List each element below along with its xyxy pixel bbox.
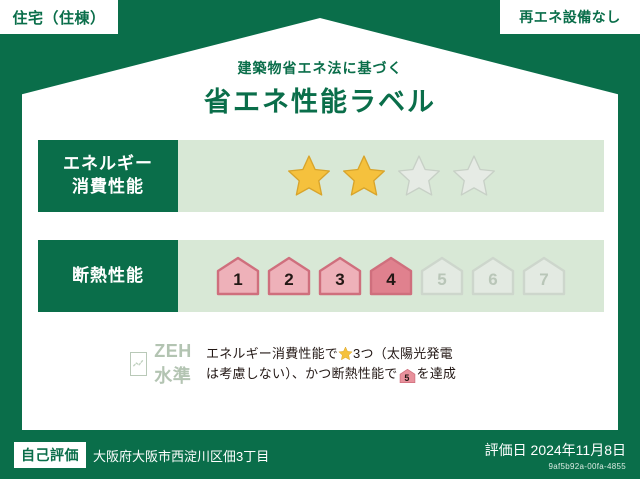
insulation-level-value: 3 — [335, 270, 344, 297]
energy-label-line1: エネルギー — [63, 153, 153, 176]
insulation-level-badge-1: 1 — [215, 255, 261, 297]
zeh-text-1a: エネルギー消費性能で — [206, 346, 338, 361]
property-address: 大阪府大阪市西淀川区佃3丁目 — [93, 446, 269, 465]
insulation-level-value: 6 — [488, 270, 497, 297]
star-icon-filled — [286, 153, 332, 199]
zeh-label: ZEH水準 — [154, 341, 206, 388]
label-footer: 自己評価 大阪府大阪市西淀川区佃3丁目 評価日 2024年11月8日 9af5b… — [0, 431, 640, 479]
zeh-description-line1: エネルギー消費性能で 3つ（太陽光発電 — [206, 344, 456, 364]
label-subtitle: 建築物省エネ法に基づく — [0, 58, 640, 78]
zeh-standard-section: ZEH水準 エネルギー消費性能で 3つ（太陽光発電 は考慮しない）、かつ断熱性能… — [38, 336, 604, 392]
insulation-performance-label-box: 断熱性能 — [38, 240, 178, 312]
energy-performance-value-box — [178, 140, 604, 212]
star-icon — [338, 346, 353, 361]
insulation-level-badge-5: 5 — [419, 255, 465, 297]
star-rating — [286, 153, 497, 199]
renewable-energy-tag-label: 再エネ設備なし — [519, 7, 621, 27]
zeh-description-line2: は考慮しない）、かつ断熱性能で 5を達成 — [206, 364, 456, 384]
insulation-level-badge-4: 4 — [368, 255, 414, 297]
energy-performance-row: エネルギー 消費性能 — [38, 140, 604, 212]
star-icon-filled — [341, 153, 387, 199]
building-type-tag: 住宅（住棟） — [0, 0, 118, 34]
zeh-check-icon — [130, 352, 147, 376]
evaluation-type-badge: 自己評価 — [14, 442, 86, 468]
insulation-label: 断熱性能 — [72, 265, 144, 288]
zeh-text-1b: 3つ（太陽光発電 — [353, 346, 453, 361]
star-icon-empty — [451, 153, 497, 199]
zeh-mark: ZEH水準 — [38, 341, 206, 388]
insulation-level-value: 4 — [386, 270, 395, 297]
insulation-level-inline-value: 5 — [399, 368, 416, 386]
insulation-level-value: 2 — [284, 270, 293, 297]
star-icon-empty — [396, 153, 442, 199]
insulation-level-inline-badge: 5 — [399, 368, 416, 384]
insulation-level-badge-6: 6 — [470, 255, 516, 297]
insulation-performance-row: 断熱性能 1234567 — [38, 240, 604, 312]
zeh-text-2a: は考慮しない）、かつ断熱性能で — [206, 366, 398, 381]
insulation-level-badge-3: 3 — [317, 255, 363, 297]
insulation-level-scale: 1234567 — [215, 255, 567, 297]
zeh-text-2b: を達成 — [417, 366, 457, 381]
insulation-level-value: 1 — [233, 270, 242, 297]
energy-performance-label-box: エネルギー 消費性能 — [38, 140, 178, 212]
label-title: 省エネ性能ラベル — [0, 80, 640, 119]
energy-performance-label: 住宅（住棟） 再エネ設備なし 建築物省エネ法に基づく 省エネ性能ラベル エネルギ… — [0, 0, 640, 479]
insulation-performance-value-box: 1234567 — [178, 240, 604, 312]
insulation-level-value: 5 — [437, 270, 446, 297]
building-type-tag-label: 住宅（住棟） — [12, 7, 105, 28]
evaluation-date: 評価日 2024年11月8日 — [485, 440, 626, 460]
insulation-level-badge-2: 2 — [266, 255, 312, 297]
insulation-level-value: 7 — [539, 270, 548, 297]
renewable-energy-tag: 再エネ設備なし — [500, 0, 640, 34]
insulation-level-badge-7: 7 — [521, 255, 567, 297]
footer-right: 評価日 2024年11月8日 9af5b92a-00fa-4855 — [485, 440, 626, 471]
energy-label-line2: 消費性能 — [72, 176, 144, 199]
zeh-description: エネルギー消費性能で 3つ（太陽光発電 は考慮しない）、かつ断熱性能で 5を達成 — [206, 344, 456, 384]
label-id: 9af5b92a-00fa-4855 — [485, 462, 626, 471]
